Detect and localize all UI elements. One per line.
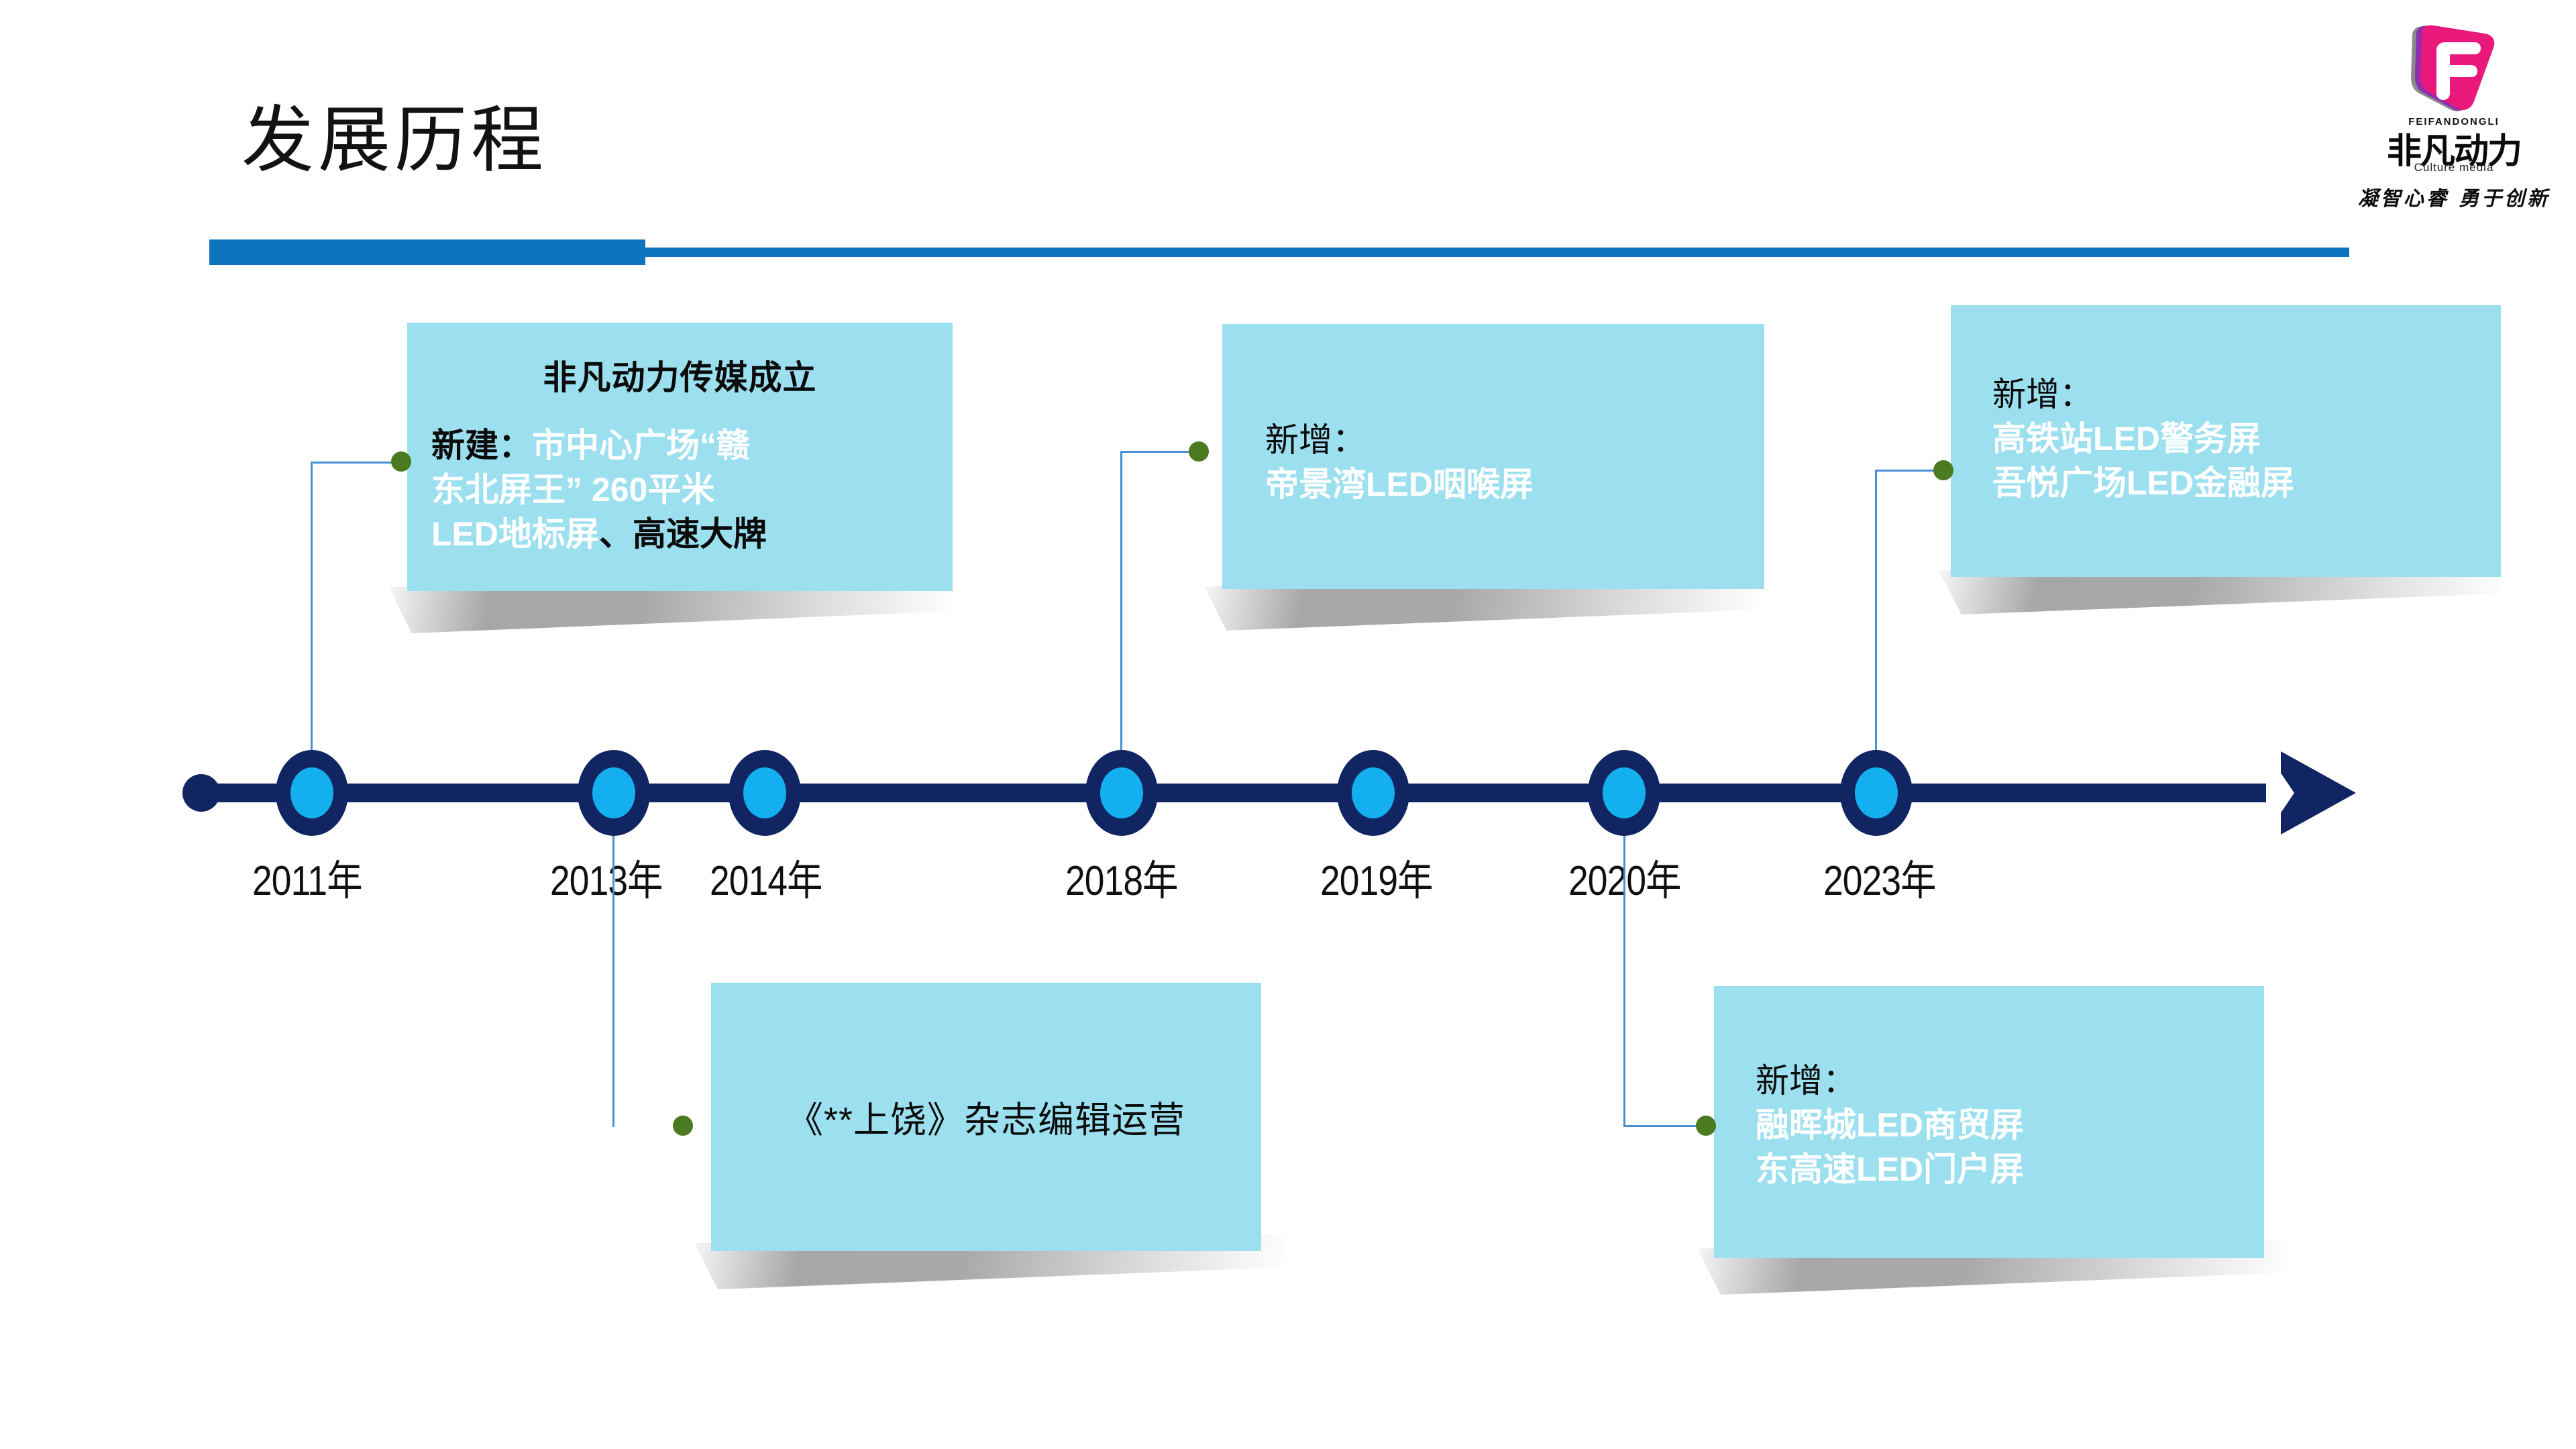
card-body-2020: 新增： 融晖城LED商贸屏 东高速LED门户屏 [1714, 986, 2264, 1191]
logo-tagline: 凝智心睿 勇于创新 [2347, 182, 2561, 211]
timeline-node-2011[interactable] [276, 750, 348, 836]
milestone-card-2014[interactable]: 《**上饶》杂志编辑运营 [711, 983, 1261, 1251]
logo-subtitle: Culture media [2347, 161, 2561, 174]
timeline-node-2019[interactable] [1337, 750, 1409, 836]
timeline-node-2020[interactable] [1588, 750, 1660, 836]
connector-segment [311, 462, 313, 784]
title-underline-thick [209, 239, 645, 265]
year-label-2023: 2023年 [1823, 847, 1936, 907]
card-highlight-2011-2: 东北屏王” 260平米 [431, 471, 714, 508]
year-label-2019: 2019年 [1320, 847, 1433, 907]
card-title-2011: 非凡动力传媒成立 [407, 351, 953, 399]
card-body-2011: 新建：市中心广场“赣 东北屏王” 260平米 LED地标屏、高速大牌 [407, 423, 953, 556]
connector-dot-2018 [1189, 441, 1209, 462]
page-title: 发展历程 [241, 101, 547, 180]
card-text-2014: 《**上饶》杂志编辑运营 [711, 1090, 1261, 1143]
card-tail-2011: 、高速大牌 [599, 515, 767, 553]
card-lead-2020: 新增： [1756, 1062, 1856, 1099]
connector-dot-2013 [673, 1116, 693, 1136]
timeline-arrow-notch [2266, 751, 2294, 835]
milestone-card-2018[interactable]: 新增： 帝景湾LED咽喉屏 [1222, 324, 1764, 589]
timeline-node-2013[interactable] [578, 750, 650, 836]
card-lead-2023: 新增： [1992, 376, 2093, 413]
connector-segment [612, 802, 614, 1127]
card-line-2023-2: 吾悦广场LED金融屏 [1992, 464, 2294, 502]
slide-canvas: 发展历程 FEIFANDONGLI 非凡动力 Culture media 凝智心… [0, 0, 2576, 1449]
timeline-node-2023[interactable] [1840, 750, 1913, 836]
milestone-card-2020[interactable]: 新增： 融晖城LED商贸屏 东高速LED门户屏 [1714, 986, 2264, 1258]
card-lead-2011: 新建： [431, 427, 532, 464]
card-body-2023: 新增： 高铁站LED警务屏 吾悦广场LED金融屏 [1951, 305, 2501, 505]
logo-f-mark [2392, 23, 2500, 121]
timeline-node-2014[interactable] [729, 750, 801, 836]
card-body-2018: 新增： 帝景湾LED咽喉屏 [1222, 324, 1764, 506]
milestone-card-2011[interactable]: 非凡动力传媒成立 新建：市中心广场“赣 东北屏王” 260平米 LED地标屏、高… [407, 323, 953, 591]
timeline-node-2018[interactable] [1085, 750, 1158, 836]
year-label-2013: 2013年 [550, 847, 663, 907]
card-line-2023-1: 高铁站LED警务屏 [1992, 420, 2261, 458]
year-label-2014: 2014年 [710, 847, 822, 907]
connector-segment [1623, 802, 1625, 1127]
year-label-2011: 2011年 [252, 847, 362, 907]
card-line-2020-2: 东高速LED门户屏 [1756, 1150, 2024, 1188]
title-underline-thin [645, 248, 2349, 257]
year-label-2018: 2018年 [1065, 847, 1178, 907]
card-lead-2018: 新增： [1265, 421, 1366, 459]
connector-dot-2023 [1933, 460, 1953, 480]
milestone-card-2023[interactable]: 新增： 高铁站LED警务屏 吾悦广场LED金融屏 [1951, 305, 2501, 577]
card-highlight-2011-3: LED地标屏 [431, 515, 599, 553]
connector-dot-2011 [391, 451, 411, 472]
connector-segment [1875, 470, 1877, 784]
card-line-2020-1: 融晖城LED商贸屏 [1756, 1106, 2024, 1144]
connector-segment [1120, 451, 1122, 784]
company-logo: FEIFANDONGLI 非凡动力 Culture media 凝智心睿 勇于创… [2347, 23, 2561, 218]
connector-dot-2020 [1696, 1116, 1716, 1136]
timeline-axis [201, 784, 2301, 802]
card-highlight-2011-1: 市中心广场“赣 [532, 427, 750, 464]
card-line-2018-1: 帝景湾LED咽喉屏 [1265, 466, 1534, 503]
